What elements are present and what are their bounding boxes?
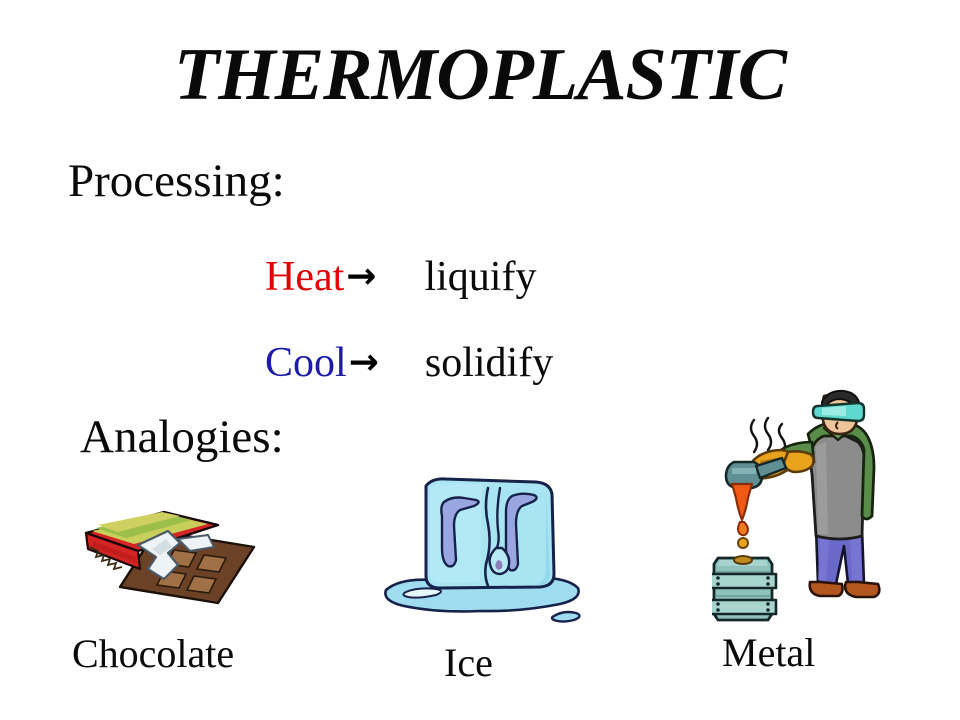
process-state-heat: Heat bbox=[265, 256, 344, 298]
chocolate-bar-svg bbox=[68, 495, 258, 615]
melting-ice-svg bbox=[360, 468, 595, 633]
caption-ice: Ice bbox=[444, 643, 493, 683]
caption-chocolate: Chocolate bbox=[72, 634, 234, 674]
melting-ice-cube-icon bbox=[360, 468, 595, 633]
caption-metal: Metal bbox=[722, 633, 815, 673]
slide-canvas: THERMOPLASTIC Processing: Heat → liquify… bbox=[0, 0, 960, 720]
processing-section-label: Processing: bbox=[68, 158, 285, 205]
arrow-right-icon: → bbox=[349, 345, 379, 381]
analogies-section-label: Analogies: bbox=[80, 414, 284, 461]
process-result-liquify: liquify bbox=[424, 256, 536, 298]
process-row-heat: Heat → liquify bbox=[265, 256, 536, 298]
arrow-right-icon: → bbox=[346, 259, 376, 295]
foundry-worker-pouring-molten-metal-icon bbox=[712, 388, 897, 628]
process-row-cool: Cool → solidify bbox=[265, 342, 553, 384]
page-title: THERMOPLASTIC bbox=[0, 38, 960, 112]
chocolate-bar-icon bbox=[68, 495, 258, 615]
process-result-solidify: solidify bbox=[425, 342, 553, 384]
process-state-cool: Cool bbox=[265, 342, 347, 384]
foundry-worker-svg bbox=[712, 388, 897, 628]
